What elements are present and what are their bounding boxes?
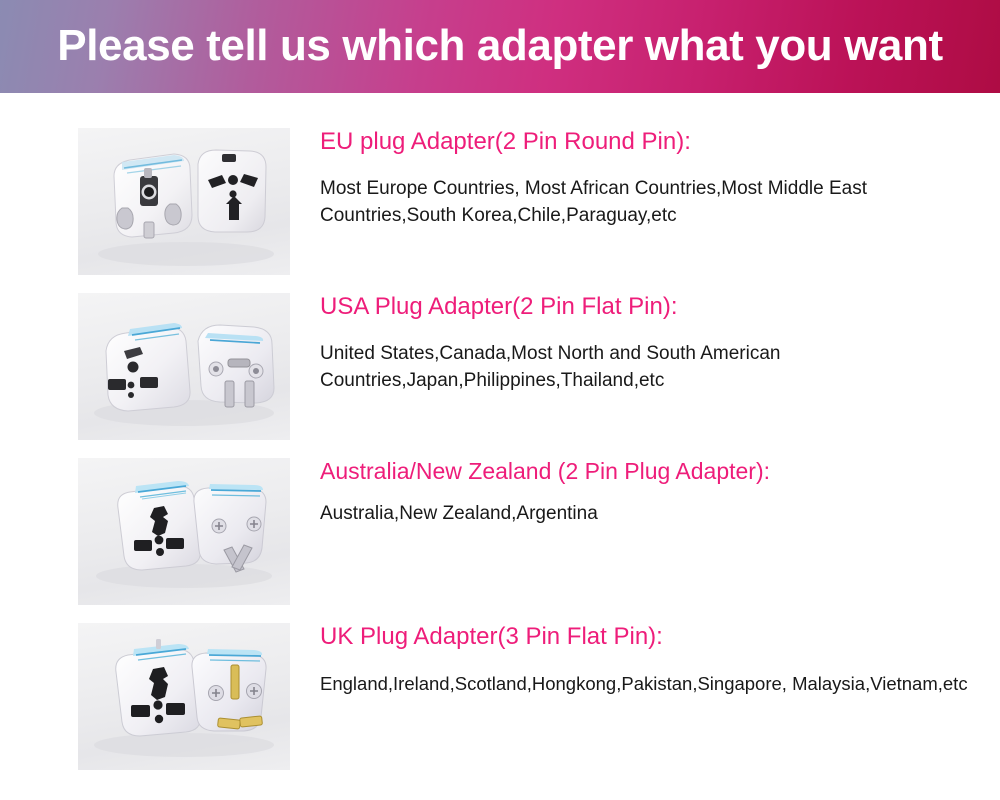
adapter-text-block: UK Plug Adapter(3 Pin Flat Pin): England… [320, 623, 970, 698]
adapter-text-block: USA Plug Adapter(2 Pin Flat Pin): United… [320, 293, 970, 395]
adapter-heading: EU plug Adapter(2 Pin Round Pin): [320, 128, 970, 156]
eu-plug-adapter-photo [78, 128, 290, 275]
adapter-body: Australia,New Zealand,Argentina [320, 491, 970, 528]
adapter-text-block: EU plug Adapter(2 Pin Round Pin): Most E… [320, 128, 970, 230]
adapter-heading: USA Plug Adapter(2 Pin Flat Pin): [320, 293, 970, 321]
australia-nz-plug-adapter-photo [78, 458, 290, 605]
adapter-body: Most Europe Countries, Most African Coun… [320, 162, 970, 230]
uk-plug-adapter-photo [78, 623, 290, 770]
usa-plug-adapter-photo [78, 293, 290, 440]
adapter-text-block: Australia/New Zealand (2 Pin Plug Adapte… [320, 458, 970, 528]
page-title: Please tell us which adapter what you wa… [0, 24, 1000, 68]
adapter-body: United States,Canada,Most North and Sout… [320, 327, 970, 395]
page-header-banner: Please tell us which adapter what you wa… [0, 0, 1000, 93]
adapter-heading: UK Plug Adapter(3 Pin Flat Pin): [320, 623, 970, 651]
adapter-body: England,Ireland,Scotland,Hongkong,Pakist… [320, 657, 970, 697]
adapter-heading: Australia/New Zealand (2 Pin Plug Adapte… [320, 458, 970, 485]
